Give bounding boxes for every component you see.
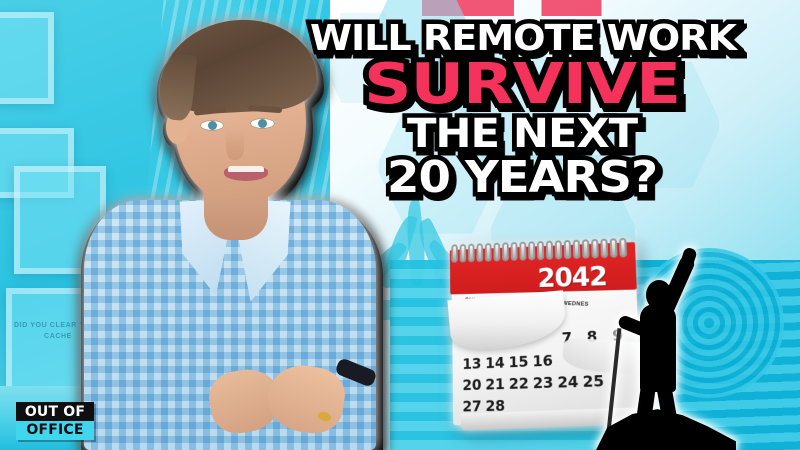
thumbnail-stage: DID YOU CLEAR YOUR CACHE 2042 bbox=[0, 0, 800, 450]
spiral-ring bbox=[468, 244, 475, 263]
channel-logo-badge[interactable]: OUT OF OFFICE bbox=[16, 402, 94, 440]
logo-line-out-of: OUT OF bbox=[16, 402, 94, 421]
spiral-ring bbox=[451, 244, 458, 263]
spiral-ring bbox=[460, 244, 467, 263]
spiral-ring bbox=[546, 241, 553, 260]
spiral-ring bbox=[555, 240, 562, 259]
spiral-ring bbox=[493, 243, 500, 262]
wall-frame bbox=[0, 12, 54, 104]
spiral-ring bbox=[582, 239, 590, 258]
silhouette-hand bbox=[679, 246, 698, 269]
headline-line-4: 20 YEARS? bbox=[310, 153, 734, 203]
iris bbox=[258, 119, 267, 128]
calendar-date-cell: 21 bbox=[483, 373, 507, 395]
spiral-ring bbox=[476, 243, 483, 262]
calendar-date-cell: 14 bbox=[483, 352, 506, 374]
calendar-date-cell: 20 bbox=[461, 374, 484, 396]
spiral-ring bbox=[537, 241, 544, 260]
calendar-date-cell: 16 bbox=[530, 350, 555, 373]
silhouette-pole bbox=[607, 328, 622, 432]
silhouette-figure bbox=[596, 248, 736, 450]
headline-line-2-survive: SURVIVE bbox=[286, 56, 758, 114]
spiral-ring bbox=[519, 242, 526, 261]
teeth bbox=[228, 166, 264, 172]
headline-block: WILL REMOTE WORK SURVIVE THE NEXT 20 YEA… bbox=[322, 18, 722, 203]
nose bbox=[226, 130, 244, 160]
calendar-date-cell: 13 bbox=[461, 353, 484, 375]
calendar-date-cell: 24 bbox=[555, 371, 581, 394]
spiral-ring bbox=[528, 241, 535, 260]
iris bbox=[208, 121, 217, 130]
spiral-ring bbox=[485, 243, 492, 262]
spiral-ring bbox=[573, 240, 581, 259]
spiral-ring bbox=[511, 242, 518, 261]
calendar-date-cell: 23 bbox=[531, 372, 556, 395]
calendar-date-cell: 22 bbox=[507, 372, 531, 394]
calendar-day-header: WEDNES bbox=[562, 301, 589, 308]
headline-line-3: THE NEXT bbox=[306, 111, 738, 157]
spiral-ring bbox=[564, 240, 572, 259]
spiral-ring bbox=[502, 242, 509, 261]
logo-line-office: OFFICE bbox=[16, 421, 94, 440]
calendar-date-cell: 15 bbox=[506, 351, 530, 374]
